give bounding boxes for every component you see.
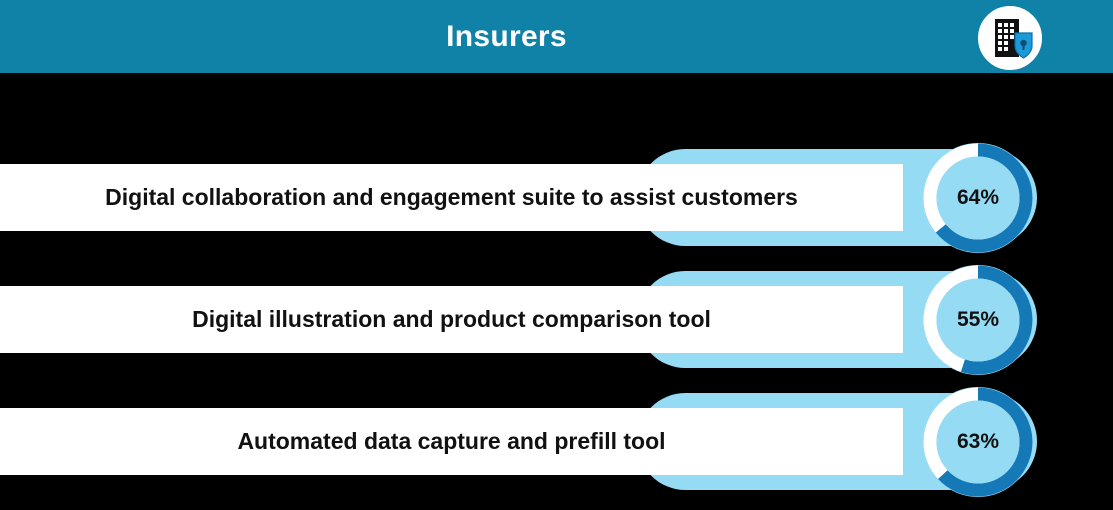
- row-label-text: Automated data capture and prefill tool: [223, 428, 679, 455]
- stat-row[interactable]: Digital collaboration and engagement sui…: [0, 136, 1113, 248]
- page-title: Insurers: [0, 0, 1013, 73]
- stat-row[interactable]: Digital illustration and product compari…: [0, 258, 1113, 370]
- donut-value-label: 55%: [922, 264, 1034, 376]
- row-label-text: Digital collaboration and engagement sui…: [91, 184, 812, 211]
- donut-chart: 63%: [922, 386, 1034, 498]
- donut-chart: 55%: [922, 264, 1034, 376]
- donut-value-label: 63%: [922, 386, 1034, 498]
- donut-value-label: 64%: [922, 142, 1034, 254]
- row-label-band: Automated data capture and prefill tool: [0, 408, 903, 475]
- stat-row[interactable]: Automated data capture and prefill tool …: [0, 380, 1113, 492]
- infographic-canvas: Insurers: [0, 0, 1113, 510]
- row-label-band: Digital illustration and product compari…: [0, 286, 903, 353]
- building-shield-icon: [976, 4, 1044, 72]
- row-label-text: Digital illustration and product compari…: [178, 306, 725, 333]
- header-bar: Insurers: [0, 0, 1113, 73]
- donut-chart: 64%: [922, 142, 1034, 254]
- row-label-band: Digital collaboration and engagement sui…: [0, 164, 903, 231]
